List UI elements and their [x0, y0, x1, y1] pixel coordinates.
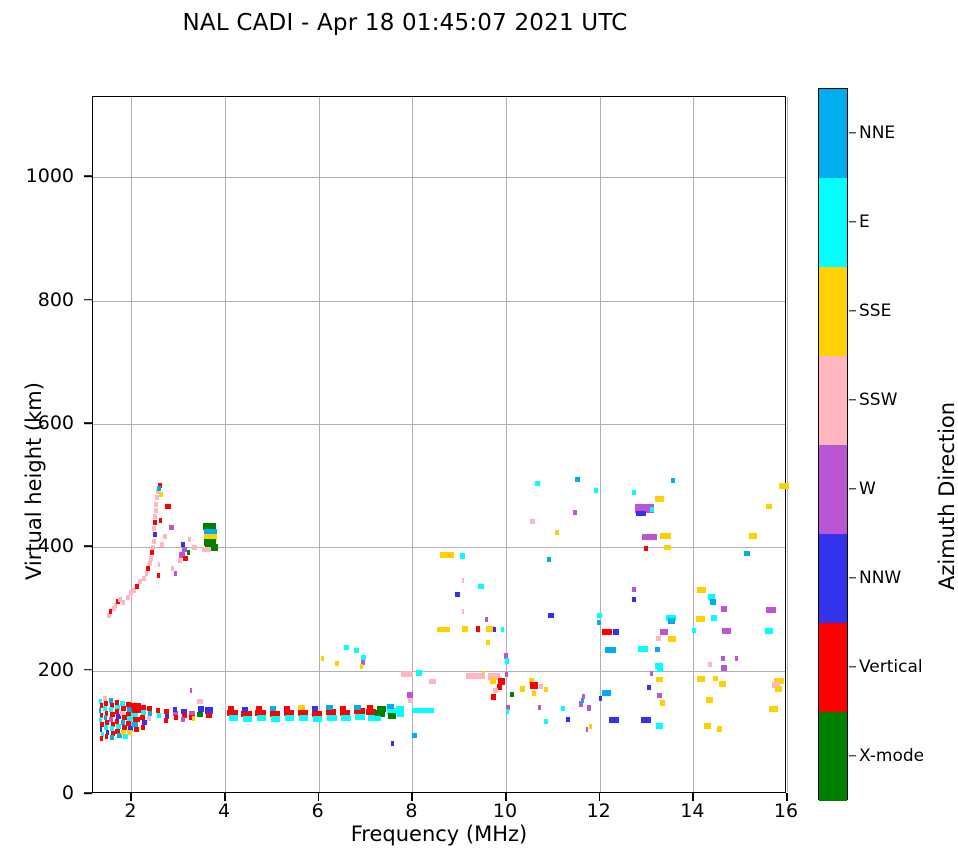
- y-axis-tick: [84, 422, 92, 424]
- echo-mark: [735, 656, 739, 661]
- echo-mark: [717, 726, 723, 732]
- echo-mark: [586, 727, 589, 732]
- echo-mark: [312, 706, 318, 711]
- gridline-vertical: [225, 97, 226, 792]
- colorbar-label-nnw: NNW: [859, 568, 901, 588]
- gridline-horizontal: [93, 177, 785, 178]
- echo-mark: [466, 673, 485, 679]
- echo-mark: [271, 716, 280, 722]
- echo-mark: [697, 676, 704, 682]
- echo-mark: [178, 558, 182, 563]
- echo-mark: [644, 546, 648, 551]
- echo-mark: [656, 636, 661, 641]
- colorbar-label-w: W: [859, 479, 876, 499]
- colorbar-tick: [849, 488, 856, 489]
- gridline-vertical: [412, 97, 413, 792]
- echo-mark: [183, 556, 188, 561]
- echo-mark: [135, 584, 139, 589]
- echo-mark: [151, 545, 155, 550]
- echo-mark: [153, 532, 157, 537]
- echo-mark: [160, 542, 163, 547]
- colorbar: [818, 88, 848, 800]
- echo-mark: [298, 705, 305, 710]
- echo-mark: [641, 717, 651, 723]
- echo-mark: [149, 556, 153, 561]
- echo-mark: [486, 640, 490, 645]
- echo-mark: [340, 706, 346, 711]
- echo-mark: [408, 698, 414, 703]
- y-axis-tick-label: 1000: [14, 165, 74, 187]
- echo-mark: [145, 571, 149, 576]
- echo-mark: [159, 518, 163, 523]
- echo-mark: [284, 706, 290, 711]
- echo-mark: [202, 547, 211, 552]
- echo-mark: [321, 656, 324, 661]
- echo-mark: [354, 705, 361, 710]
- echo-mark: [100, 736, 103, 741]
- echo-mark: [412, 708, 424, 713]
- gridline-vertical: [319, 97, 320, 792]
- echo-mark: [530, 519, 535, 524]
- gridline-vertical: [693, 97, 694, 792]
- colorbar-label-ssw: SSW: [859, 390, 897, 410]
- gridline-horizontal: [93, 301, 785, 302]
- echo-mark: [538, 705, 541, 710]
- echo-mark: [655, 647, 660, 652]
- x-axis-tick-label: 8: [405, 800, 417, 822]
- echo-mark: [721, 656, 726, 661]
- echo-mark: [327, 715, 336, 721]
- echo-mark: [163, 534, 166, 539]
- echo-mark: [769, 706, 777, 712]
- echo-mark: [242, 707, 248, 712]
- echo-mark: [779, 483, 789, 489]
- echo-mark: [555, 530, 559, 535]
- echo-mark: [632, 597, 635, 602]
- colorbar-segment-e: [819, 178, 847, 267]
- colorbar-tick: [849, 577, 856, 578]
- echo-mark: [706, 697, 713, 703]
- echo-mark: [174, 715, 179, 720]
- echo-mark: [696, 616, 705, 622]
- echo-mark: [455, 592, 459, 597]
- echo-mark: [655, 496, 664, 502]
- echo-mark: [535, 481, 540, 486]
- echo-mark: [602, 629, 612, 635]
- echo-mark: [713, 676, 718, 681]
- echo-mark: [544, 687, 547, 692]
- echo-mark: [387, 704, 394, 709]
- echo-mark: [721, 606, 728, 612]
- y-axis-tick-label: 800: [14, 289, 74, 311]
- echo-mark: [206, 713, 212, 718]
- echo-mark: [157, 486, 162, 491]
- echo-mark: [192, 545, 197, 550]
- echo-mark: [493, 627, 496, 632]
- echo-mark: [722, 628, 730, 634]
- echo-mark: [228, 706, 235, 711]
- echo-mark: [609, 717, 619, 723]
- echo-mark: [478, 584, 484, 589]
- colorbar-label-x-mode: X-mode: [859, 746, 924, 766]
- echo-mark: [126, 595, 130, 600]
- y-axis-tick-label: 200: [14, 659, 74, 681]
- echo-mark: [692, 628, 696, 633]
- echo-mark: [602, 690, 611, 696]
- echo-mark: [719, 681, 726, 687]
- echo-mark: [744, 551, 751, 556]
- echo-mark: [656, 677, 663, 682]
- echo-mark: [326, 705, 333, 710]
- echo-mark: [462, 626, 468, 632]
- echo-mark: [657, 693, 663, 698]
- echo-mark: [506, 709, 509, 714]
- echo-mark: [197, 699, 203, 704]
- x-axis-tick-label: 10: [493, 800, 517, 822]
- echo-mark: [153, 514, 157, 519]
- gridline-vertical: [787, 97, 788, 792]
- echo-mark: [335, 661, 339, 666]
- echo-mark: [573, 510, 577, 515]
- echo-mark: [257, 715, 266, 721]
- echo-mark: [437, 627, 450, 632]
- echo-mark: [153, 520, 157, 525]
- echo-mark: [158, 562, 161, 567]
- echo-mark: [561, 706, 565, 711]
- echo-mark: [354, 648, 360, 653]
- echo-mark: [174, 571, 177, 576]
- echo-mark: [505, 672, 508, 677]
- echo-mark: [173, 707, 178, 712]
- gridline-vertical: [131, 97, 132, 792]
- gridline-horizontal: [93, 671, 785, 672]
- echo-mark: [530, 682, 537, 689]
- colorbar-tick: [849, 399, 856, 400]
- echo-mark: [490, 678, 497, 684]
- echo-mark: [775, 686, 782, 692]
- echo-mark: [391, 741, 394, 746]
- echo-mark: [243, 716, 252, 722]
- echo-mark: [485, 617, 488, 622]
- echo-mark: [544, 719, 547, 724]
- x-axis-tick-label: 12: [587, 800, 611, 822]
- colorbar-tick: [849, 221, 856, 222]
- echo-mark: [664, 545, 671, 550]
- echo-mark: [159, 492, 162, 497]
- echo-mark: [401, 671, 413, 677]
- page-title: NAL CADI - Apr 18 01:45:07 2021 UTC: [0, 10, 810, 36]
- x-axis-tick-label: 14: [680, 800, 704, 822]
- echo-mark: [197, 712, 203, 717]
- echo-mark: [575, 477, 580, 482]
- echo-mark: [150, 550, 154, 555]
- echo-mark: [668, 636, 676, 642]
- echo-mark: [636, 511, 645, 516]
- echo-mark: [462, 578, 465, 583]
- echo-mark: [476, 626, 480, 632]
- y-axis-tick: [84, 792, 92, 794]
- x-axis-tick-label: 2: [124, 800, 136, 822]
- echo-mark: [377, 706, 385, 712]
- echo-mark: [597, 620, 601, 625]
- echo-mark: [491, 694, 496, 700]
- echo-mark: [157, 713, 161, 718]
- y-axis-tick: [84, 669, 92, 671]
- echo-mark: [594, 488, 598, 493]
- echo-mark: [152, 539, 156, 544]
- echo-mark: [642, 534, 657, 540]
- colorbar-label-e: E: [859, 212, 870, 232]
- echo-mark: [388, 713, 396, 719]
- echo-mark: [660, 700, 666, 706]
- echo-mark: [460, 553, 465, 559]
- echo-mark: [169, 525, 175, 530]
- echo-mark: [256, 706, 262, 711]
- colorbar-segment-vertical: [819, 623, 847, 712]
- echo-mark: [520, 686, 525, 692]
- echo-mark: [412, 733, 417, 738]
- echo-mark: [660, 533, 671, 539]
- echo-mark: [192, 716, 194, 721]
- echo-mark: [613, 629, 620, 635]
- echo-mark: [397, 712, 404, 717]
- echo-mark: [539, 684, 543, 689]
- echo-mark: [697, 587, 705, 593]
- colorbar-segment-nne: [819, 89, 847, 178]
- echo-mark: [341, 715, 350, 721]
- echo-mark: [440, 552, 454, 558]
- echo-mark: [313, 716, 322, 722]
- y-axis-label: Virtual height (km): [22, 382, 46, 580]
- echo-mark: [344, 645, 349, 650]
- echo-mark: [587, 705, 591, 711]
- ionogram-figure: NAL CADI - Apr 18 01:45:07 2021 UTC 0200…: [0, 0, 958, 857]
- echo-mark: [105, 734, 108, 739]
- echo-mark: [710, 599, 717, 605]
- x-axis-tick-label: 4: [218, 800, 230, 822]
- colorbar-tick: [849, 132, 856, 133]
- echo-mark: [632, 490, 636, 495]
- echo-mark: [632, 587, 636, 592]
- echo-mark: [704, 723, 711, 729]
- echo-mark: [142, 576, 146, 581]
- echo-mark: [510, 692, 514, 697]
- echo-mark: [374, 716, 381, 721]
- echo-mark: [122, 600, 125, 605]
- echo-mark: [650, 507, 653, 512]
- echo-mark: [605, 647, 615, 653]
- x-axis-tick-label: 6: [312, 800, 324, 822]
- echo-mark: [152, 526, 156, 531]
- echo-mark: [548, 613, 554, 618]
- echo-mark: [660, 629, 668, 635]
- y-axis-tick-label: 0: [14, 782, 74, 804]
- colorbar-tick: [849, 755, 856, 756]
- colorbar-segment-ssw: [819, 356, 847, 445]
- echo-mark: [647, 685, 652, 690]
- echo-mark: [711, 615, 717, 621]
- echo-mark: [147, 716, 151, 721]
- echo-mark: [355, 714, 364, 720]
- echo-mark: [589, 724, 592, 729]
- echo-mark: [532, 691, 537, 696]
- echo-mark: [582, 694, 585, 699]
- y-axis-tick: [84, 175, 92, 177]
- echo-mark: [766, 504, 773, 509]
- colorbar-label-nne: NNE: [859, 123, 895, 143]
- echo-mark: [110, 735, 114, 740]
- colorbar-segment-x-mode: [819, 712, 847, 801]
- echo-mark: [141, 725, 146, 730]
- echo-mark: [146, 566, 150, 571]
- echo-mark: [650, 671, 653, 676]
- echo-mark: [749, 533, 757, 539]
- echo-mark: [505, 658, 509, 664]
- y-axis-tick: [84, 299, 92, 301]
- colorbar-tick: [849, 666, 856, 667]
- echo-mark: [597, 613, 601, 618]
- echo-mark: [155, 495, 159, 500]
- x-axis-tick-label: 16: [774, 800, 798, 822]
- gridline-vertical: [600, 97, 601, 792]
- echo-mark: [416, 670, 422, 676]
- echo-mark: [127, 730, 132, 735]
- echo-mark: [299, 715, 308, 721]
- echo-mark: [165, 504, 171, 509]
- echo-mark: [462, 609, 465, 614]
- data-marks-layer: [93, 97, 785, 792]
- echo-mark: [154, 508, 158, 513]
- echo-mark: [134, 727, 140, 732]
- echo-mark: [656, 723, 663, 729]
- echo-mark: [721, 665, 728, 671]
- x-axis-label: Frequency (MHz): [92, 822, 786, 846]
- echo-mark: [429, 679, 436, 684]
- echo-mark: [668, 618, 675, 624]
- echo-mark: [424, 708, 434, 713]
- plot-area: [92, 96, 786, 793]
- echo-mark: [671, 478, 675, 483]
- colorbar-label-vertical: Vertical: [859, 657, 923, 677]
- gridline-vertical: [506, 97, 507, 792]
- gridline-horizontal: [93, 424, 785, 425]
- echo-mark: [367, 705, 374, 710]
- colorbar-tick: [849, 310, 856, 311]
- echo-mark: [657, 667, 664, 672]
- echo-mark: [766, 607, 776, 613]
- echo-mark: [765, 628, 773, 634]
- echo-mark: [190, 688, 192, 693]
- echo-mark: [148, 561, 152, 566]
- echo-mark: [187, 550, 191, 555]
- echo-mark: [188, 537, 191, 542]
- colorbar-title: Azimuth Direction: [935, 402, 958, 590]
- y-axis-tick: [84, 545, 92, 547]
- echo-mark: [708, 662, 711, 667]
- echo-mark: [229, 715, 238, 721]
- echo-mark: [270, 706, 276, 711]
- echo-mark: [164, 718, 168, 723]
- echo-mark: [566, 717, 570, 722]
- echo-mark: [181, 717, 186, 722]
- echo-mark: [501, 627, 504, 632]
- echo-mark: [285, 715, 294, 721]
- colorbar-segment-sse: [819, 267, 847, 356]
- colorbar-segment-nnw: [819, 534, 847, 623]
- echo-mark: [154, 502, 158, 507]
- echo-mark: [599, 696, 602, 701]
- echo-mark: [360, 664, 363, 669]
- echo-mark: [547, 557, 551, 562]
- colorbar-segment-w: [819, 445, 847, 534]
- colorbar-label-sse: SSE: [859, 301, 891, 321]
- echo-mark: [638, 646, 648, 652]
- echo-mark: [157, 573, 160, 578]
